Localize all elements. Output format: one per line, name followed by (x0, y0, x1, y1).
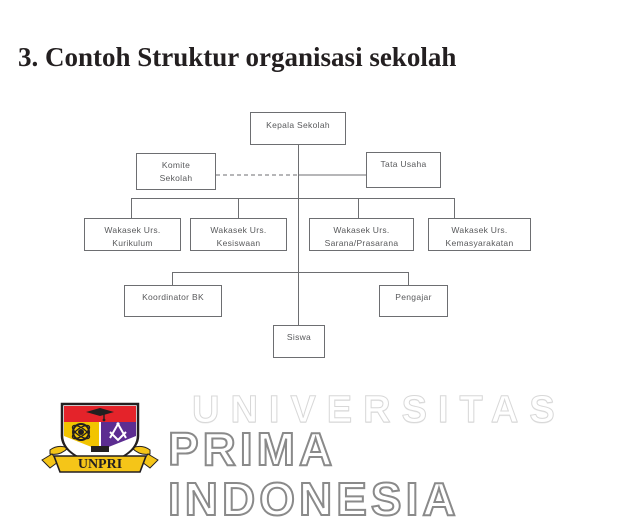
organization-chart: trunk --> Kepala Sekolah Komite Sekolah … (0, 95, 638, 385)
node-kepala-sekolah[interactable]: Kepala Sekolah (250, 112, 346, 145)
node-komite-sekolah[interactable]: Komite Sekolah (136, 153, 216, 190)
node-siswa[interactable]: Siswa (273, 325, 325, 358)
book-icon (91, 446, 109, 452)
node-label-kemasyarakatan: Kemasyarakatan (429, 237, 530, 250)
node-label-wakasek-prefix-kesiswaan: Wakasek Urs. (191, 224, 286, 237)
node-pengajar[interactable]: Pengajar (379, 285, 448, 317)
node-label-pengajar: Pengajar (380, 291, 447, 304)
node-wakasek-kesiswaan[interactable]: Wakasek Urs. Kesiswaan (190, 218, 287, 251)
node-label-koordinator-bk: Koordinator BK (125, 291, 221, 304)
node-label-kurikulum: Kurikulum (85, 237, 180, 250)
unpri-logo: UNPRI (28, 388, 172, 478)
unpri-banner-text: UNPRI (78, 457, 122, 472)
page-title: 3. Contoh Struktur organisasi sekolah (18, 40, 618, 74)
node-label-tata-usaha: Tata Usaha (367, 158, 440, 171)
node-label-siswa: Siswa (274, 331, 324, 344)
node-label-wakasek-prefix-kemasyarakatan: Wakasek Urs. (429, 224, 530, 237)
node-label-wakasek-prefix-kurikulum: Wakasek Urs. (85, 224, 180, 237)
university-wordmark: UNIVERSITAS PRIMA INDONESIA (168, 384, 638, 476)
node-wakasek-kemasyarakatan[interactable]: Wakasek Urs. Kemasyarakatan (428, 218, 531, 251)
node-wakasek-kurikulum[interactable]: Wakasek Urs. Kurikulum (84, 218, 181, 251)
node-label-kesiswaan: Kesiswaan (191, 237, 286, 250)
unpri-shield-icon: UNPRI (28, 388, 172, 478)
node-label-kepala-sekolah: Kepala Sekolah (251, 119, 345, 132)
node-tata-usaha[interactable]: Tata Usaha (366, 152, 441, 188)
node-wakasek-sarana-prasarana[interactable]: Wakasek Urs. Sarana/Prasarana (309, 218, 414, 251)
node-label-komite-line1: Komite (137, 159, 215, 172)
node-label-komite-line2: Sekolah (137, 172, 215, 185)
wordmark-line-prima-indonesia: PRIMA INDONESIA (168, 424, 638, 524)
node-label-sarana-prasarana: Sarana/Prasarana (310, 237, 413, 250)
node-koordinator-bk[interactable]: Koordinator BK (124, 285, 222, 317)
node-label-wakasek-prefix-sarana: Wakasek Urs. (310, 224, 413, 237)
brand-footer: UNPRI UNIVERSITAS PRIMA INDONESIA (0, 378, 638, 479)
